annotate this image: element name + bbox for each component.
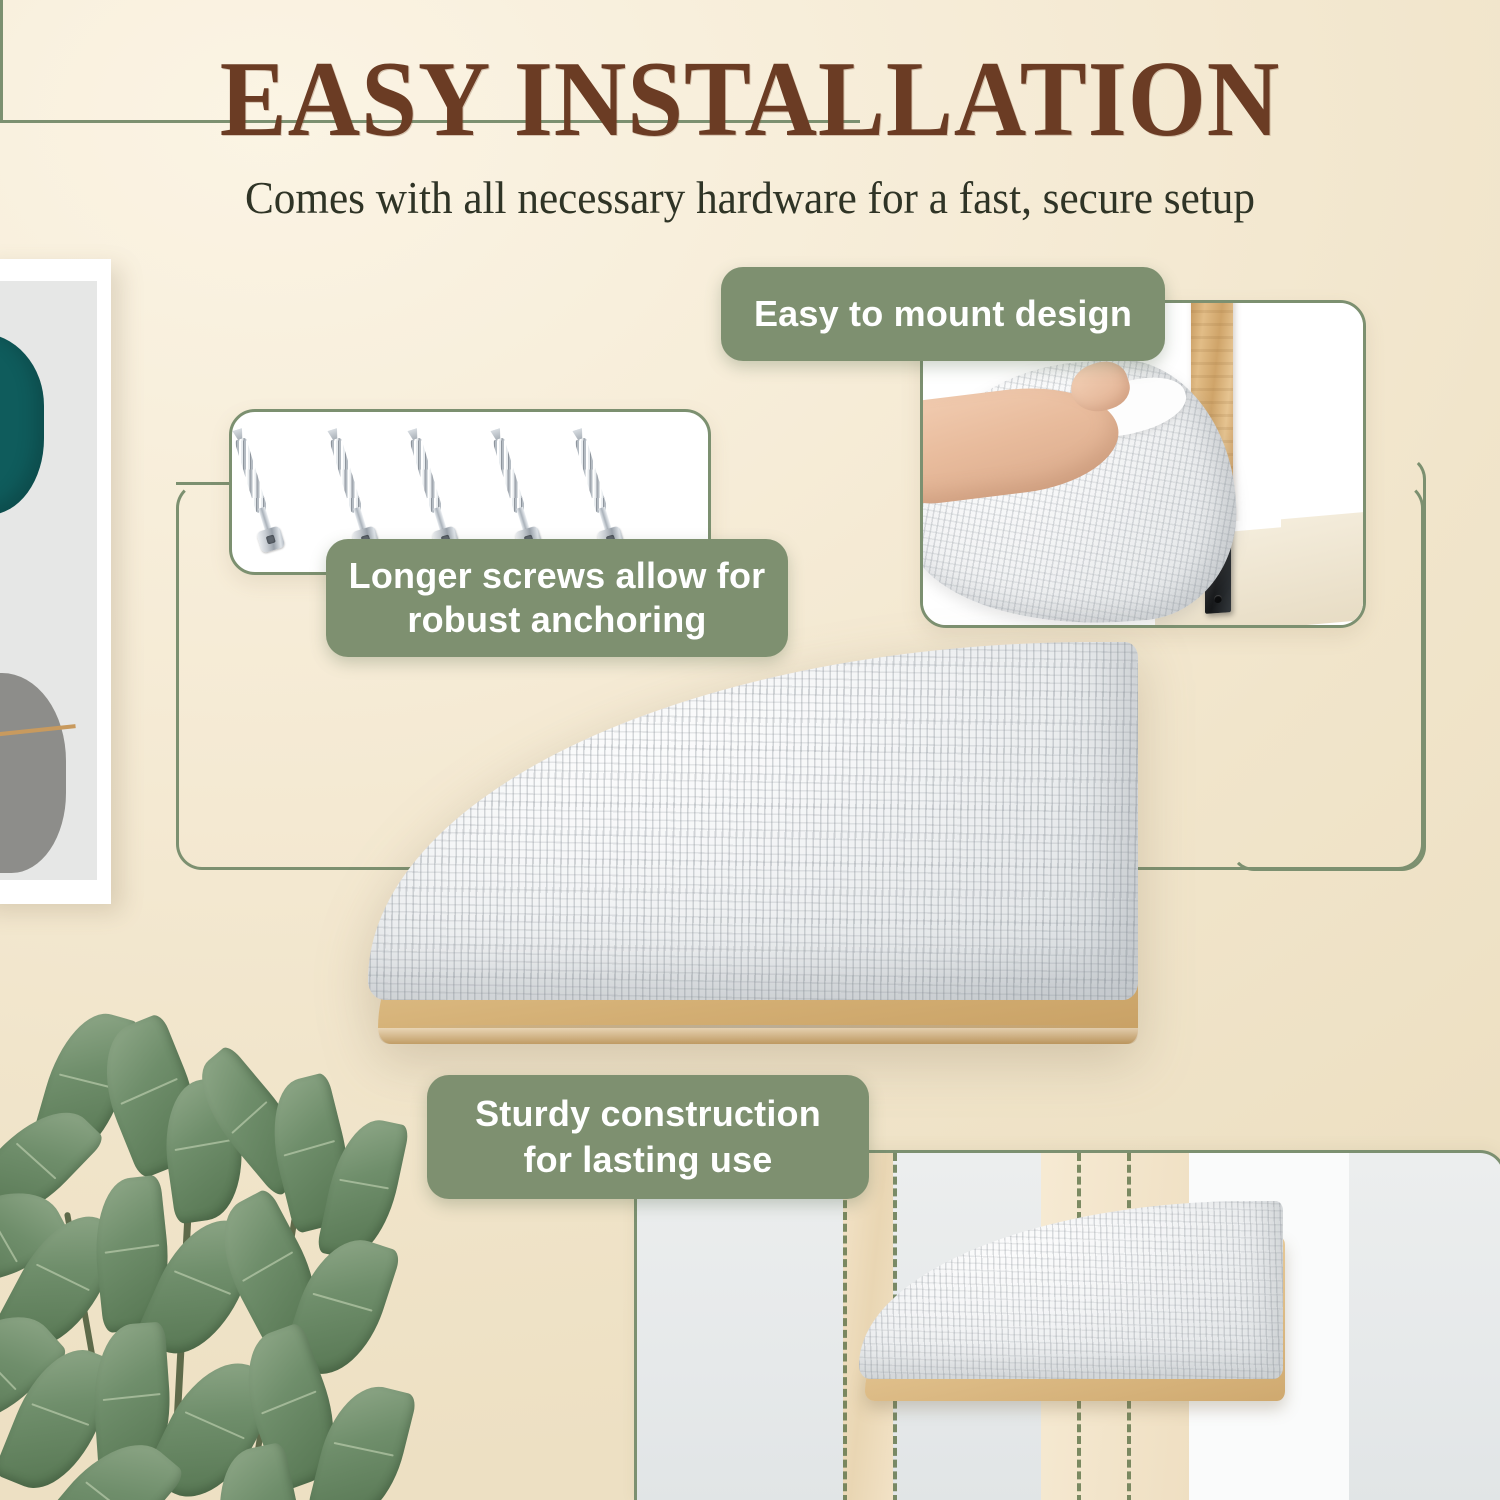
installed-fabric-cushion: [859, 1201, 1283, 1379]
hero-fabric-cushion: [368, 642, 1138, 1000]
screw-shaft-icon: [234, 437, 268, 513]
page-title: EASY INSTALLATION: [53, 46, 1448, 154]
connector-line-vertical: [0, 0, 3, 120]
wall-art-frame: [0, 259, 111, 904]
hero-corner-shelf: [368, 642, 1148, 1050]
installed-corner-shelf: [859, 1201, 1289, 1401]
wall-art-gray-shape: [0, 673, 66, 873]
screw-head-icon: [256, 525, 285, 553]
screw-shaft-icon: [574, 437, 608, 513]
wall-art-teal-shape: [0, 333, 44, 515]
screw-1: [229, 434, 285, 554]
callout-sturdy-construction[interactable]: Sturdy constructionfor lasting use: [427, 1075, 869, 1199]
screw-shaft-icon: [492, 437, 526, 513]
wall-art-mat: [0, 281, 97, 880]
hero-seam: [388, 1025, 1128, 1028]
plant-decor: [0, 1000, 440, 1500]
screw-2: [323, 434, 380, 554]
infographic-canvas: EASY INSTALLATION Comes with all necessa…: [0, 0, 1500, 1500]
screw-5: [568, 434, 625, 554]
callout-longer-screws[interactable]: Longer screws allow forrobust anchoring: [326, 539, 788, 657]
callout-easy-to-mount[interactable]: Easy to mount design: [721, 267, 1165, 361]
bracket-hole-icon: [1214, 595, 1222, 604]
stud-dashed-line: [843, 1153, 847, 1500]
page-subtitle: Comes with all necessary hardware for a …: [30, 172, 1470, 224]
screw-shaft-icon: [329, 437, 363, 513]
screw-shaft-icon: [409, 437, 443, 513]
installed-view-panel: [634, 1150, 1500, 1500]
screw-3: [403, 434, 460, 554]
screw-4: [486, 434, 543, 554]
